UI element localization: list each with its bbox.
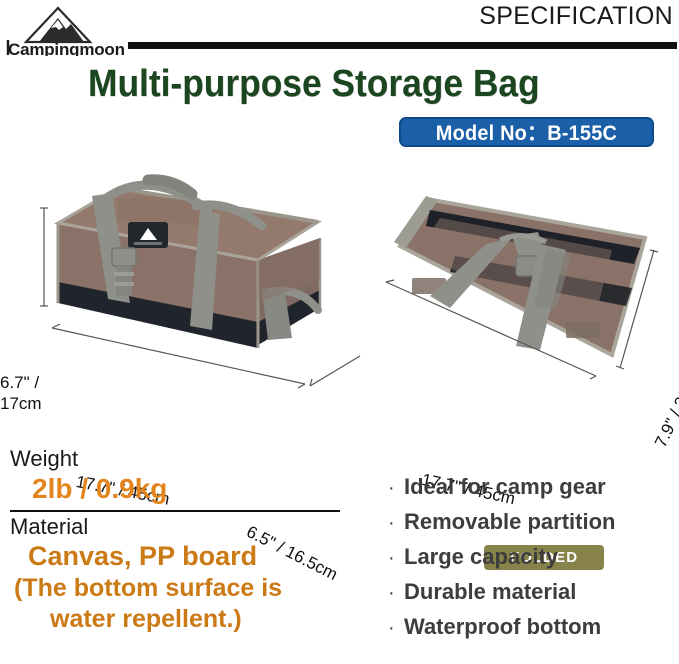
feature-label: Durable material [404,579,576,605]
feature-label: Ideal for camp gear [404,474,606,500]
feature-label: Large capacity [404,544,558,570]
material-value: Canvas, PP board [10,540,350,573]
bullet-icon: · [388,545,404,571]
feature-label: Removable partition [404,509,615,535]
page-title: Multi-purpose Storage Bag [88,62,572,106]
material-note-line-1: (The bottom surface is [10,573,350,604]
open-bag-illustration [58,180,320,348]
open-bag-height-label: 6.7" / 17cm [0,372,42,414]
bullet-icon: · [388,615,404,641]
product-figures: 6.7" / 17cm 17.7" / 45cm 6.5" / 16.5cm 1… [0,160,679,425]
feature-label: Waterproof bottom [404,614,601,640]
page-header: Campingmoon SPECIFICATION [0,0,679,58]
list-item: · Waterproof bottom [388,614,678,641]
bullet-icon: · [388,580,404,606]
svg-text:Campingmoon: Campingmoon [8,40,125,56]
model-number-label: Model No：B-155C [436,117,617,147]
list-item: · Large capacity [388,544,678,571]
folded-bag-illustration [394,196,645,355]
specification-heading: SPECIFICATION [479,2,673,31]
model-number-badge: Model No：B-155C [399,117,654,147]
feature-list: · Ideal for camp gear · Removable partit… [388,474,678,649]
specification-list: Weight 2lb / 0.9kg Material Canvas, PP b… [10,446,350,635]
spec-divider [10,510,340,512]
list-item: · Removable partition [388,509,678,536]
weight-label: Weight [10,446,350,472]
bullet-icon: · [388,510,404,536]
material-note-line-2: water repellent.) [10,604,350,635]
material-label: Material [10,514,350,540]
weight-value: 2lb / 0.9kg [10,472,350,506]
list-item: · Durable material [388,579,678,606]
header-divider [128,42,677,49]
list-item: · Ideal for camp gear [388,474,678,501]
bullet-icon: · [388,475,404,501]
brand-logo: Campingmoon [6,2,132,56]
mountain-logo-icon [26,8,90,42]
